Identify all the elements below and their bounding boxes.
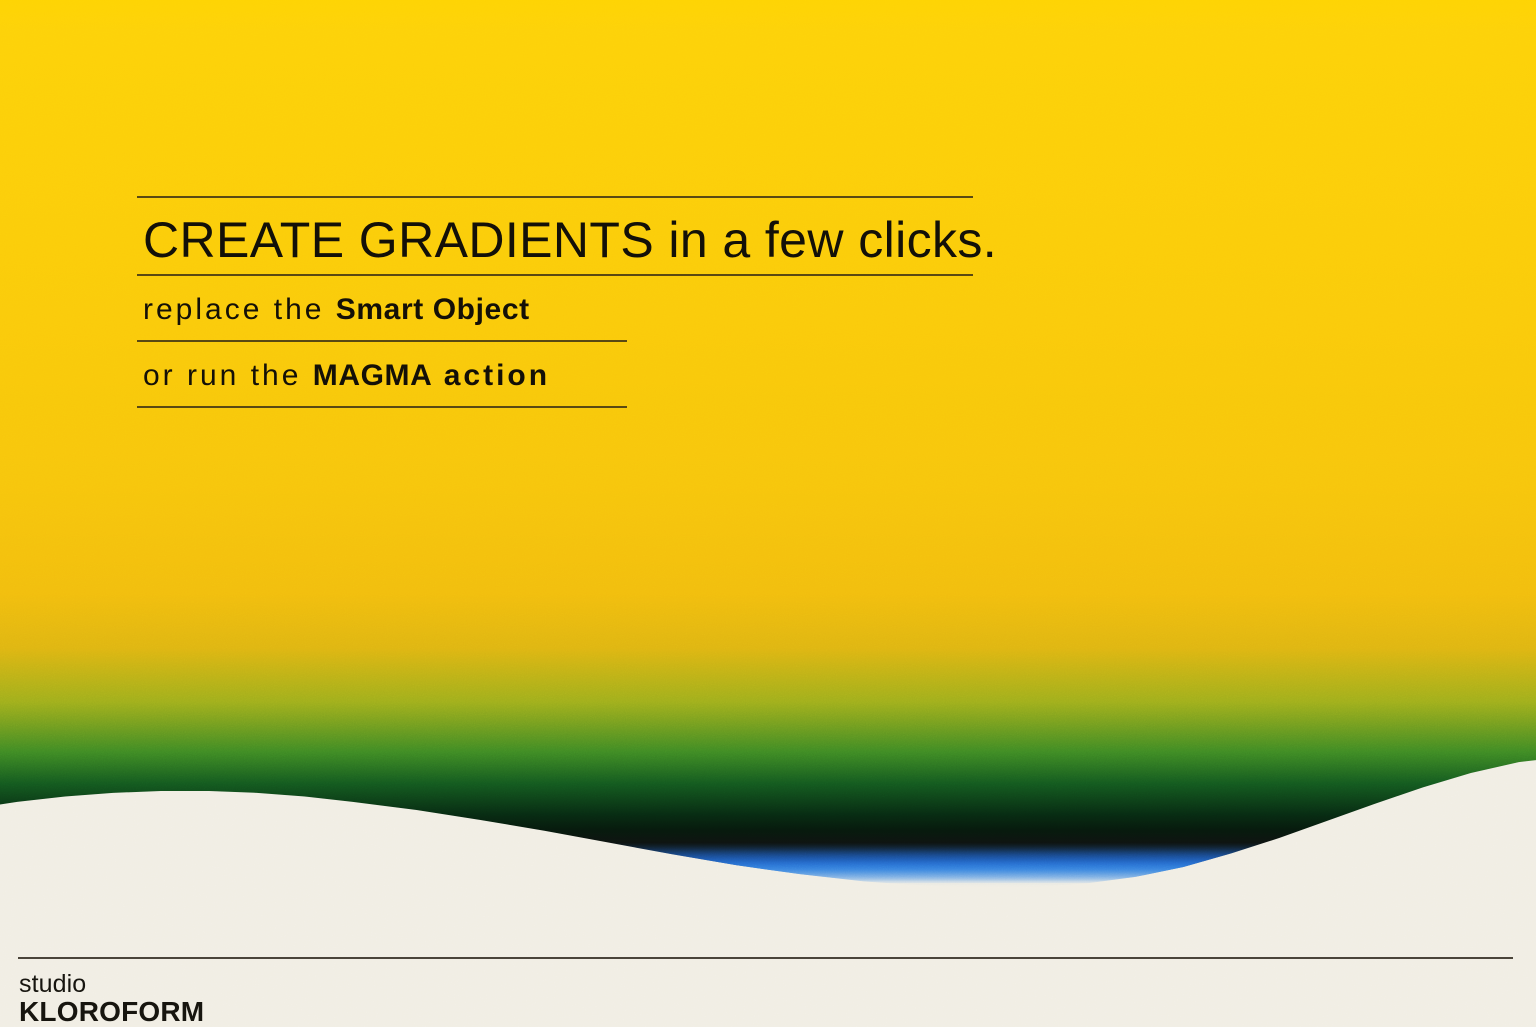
brand-logo: studio KLOROFORM xyxy=(19,971,204,1026)
rule-above-headline xyxy=(137,196,973,198)
rule-below-sublines xyxy=(137,406,627,408)
footer: studio KLOROFORM xyxy=(0,937,1536,1027)
footer-divider xyxy=(18,957,1513,959)
subline-1-strong: Smart Object xyxy=(336,293,530,326)
gradient-artwork xyxy=(0,0,1536,1027)
subline-2-lead: or run the xyxy=(143,359,313,392)
subline-magma-action: or run the MAGMA action xyxy=(137,342,997,406)
poster-canvas: CREATE GRADIENTS in a few clicks. replac… xyxy=(0,0,1536,1027)
rule-between-sublines xyxy=(137,340,627,342)
logo-kloroform-label: KLOROFORM xyxy=(19,997,204,1026)
subline-2-strong: MAGMA xyxy=(313,359,433,392)
headline-main: CREATE GRADIENTS xyxy=(143,212,654,268)
copy-block: CREATE GRADIENTS in a few clicks. replac… xyxy=(137,196,997,408)
logo-studio-label: studio xyxy=(19,971,204,997)
subline-smart-object: replace the Smart Object xyxy=(137,276,997,340)
subline-1-lead: replace the xyxy=(143,293,336,326)
headline-tail: in a few clicks. xyxy=(654,212,997,268)
subline-2-tail: action xyxy=(432,359,550,392)
rule-below-headline xyxy=(137,274,973,276)
page-title: CREATE GRADIENTS in a few clicks. xyxy=(137,198,997,274)
blue-rim-highlight xyxy=(0,0,1536,883)
